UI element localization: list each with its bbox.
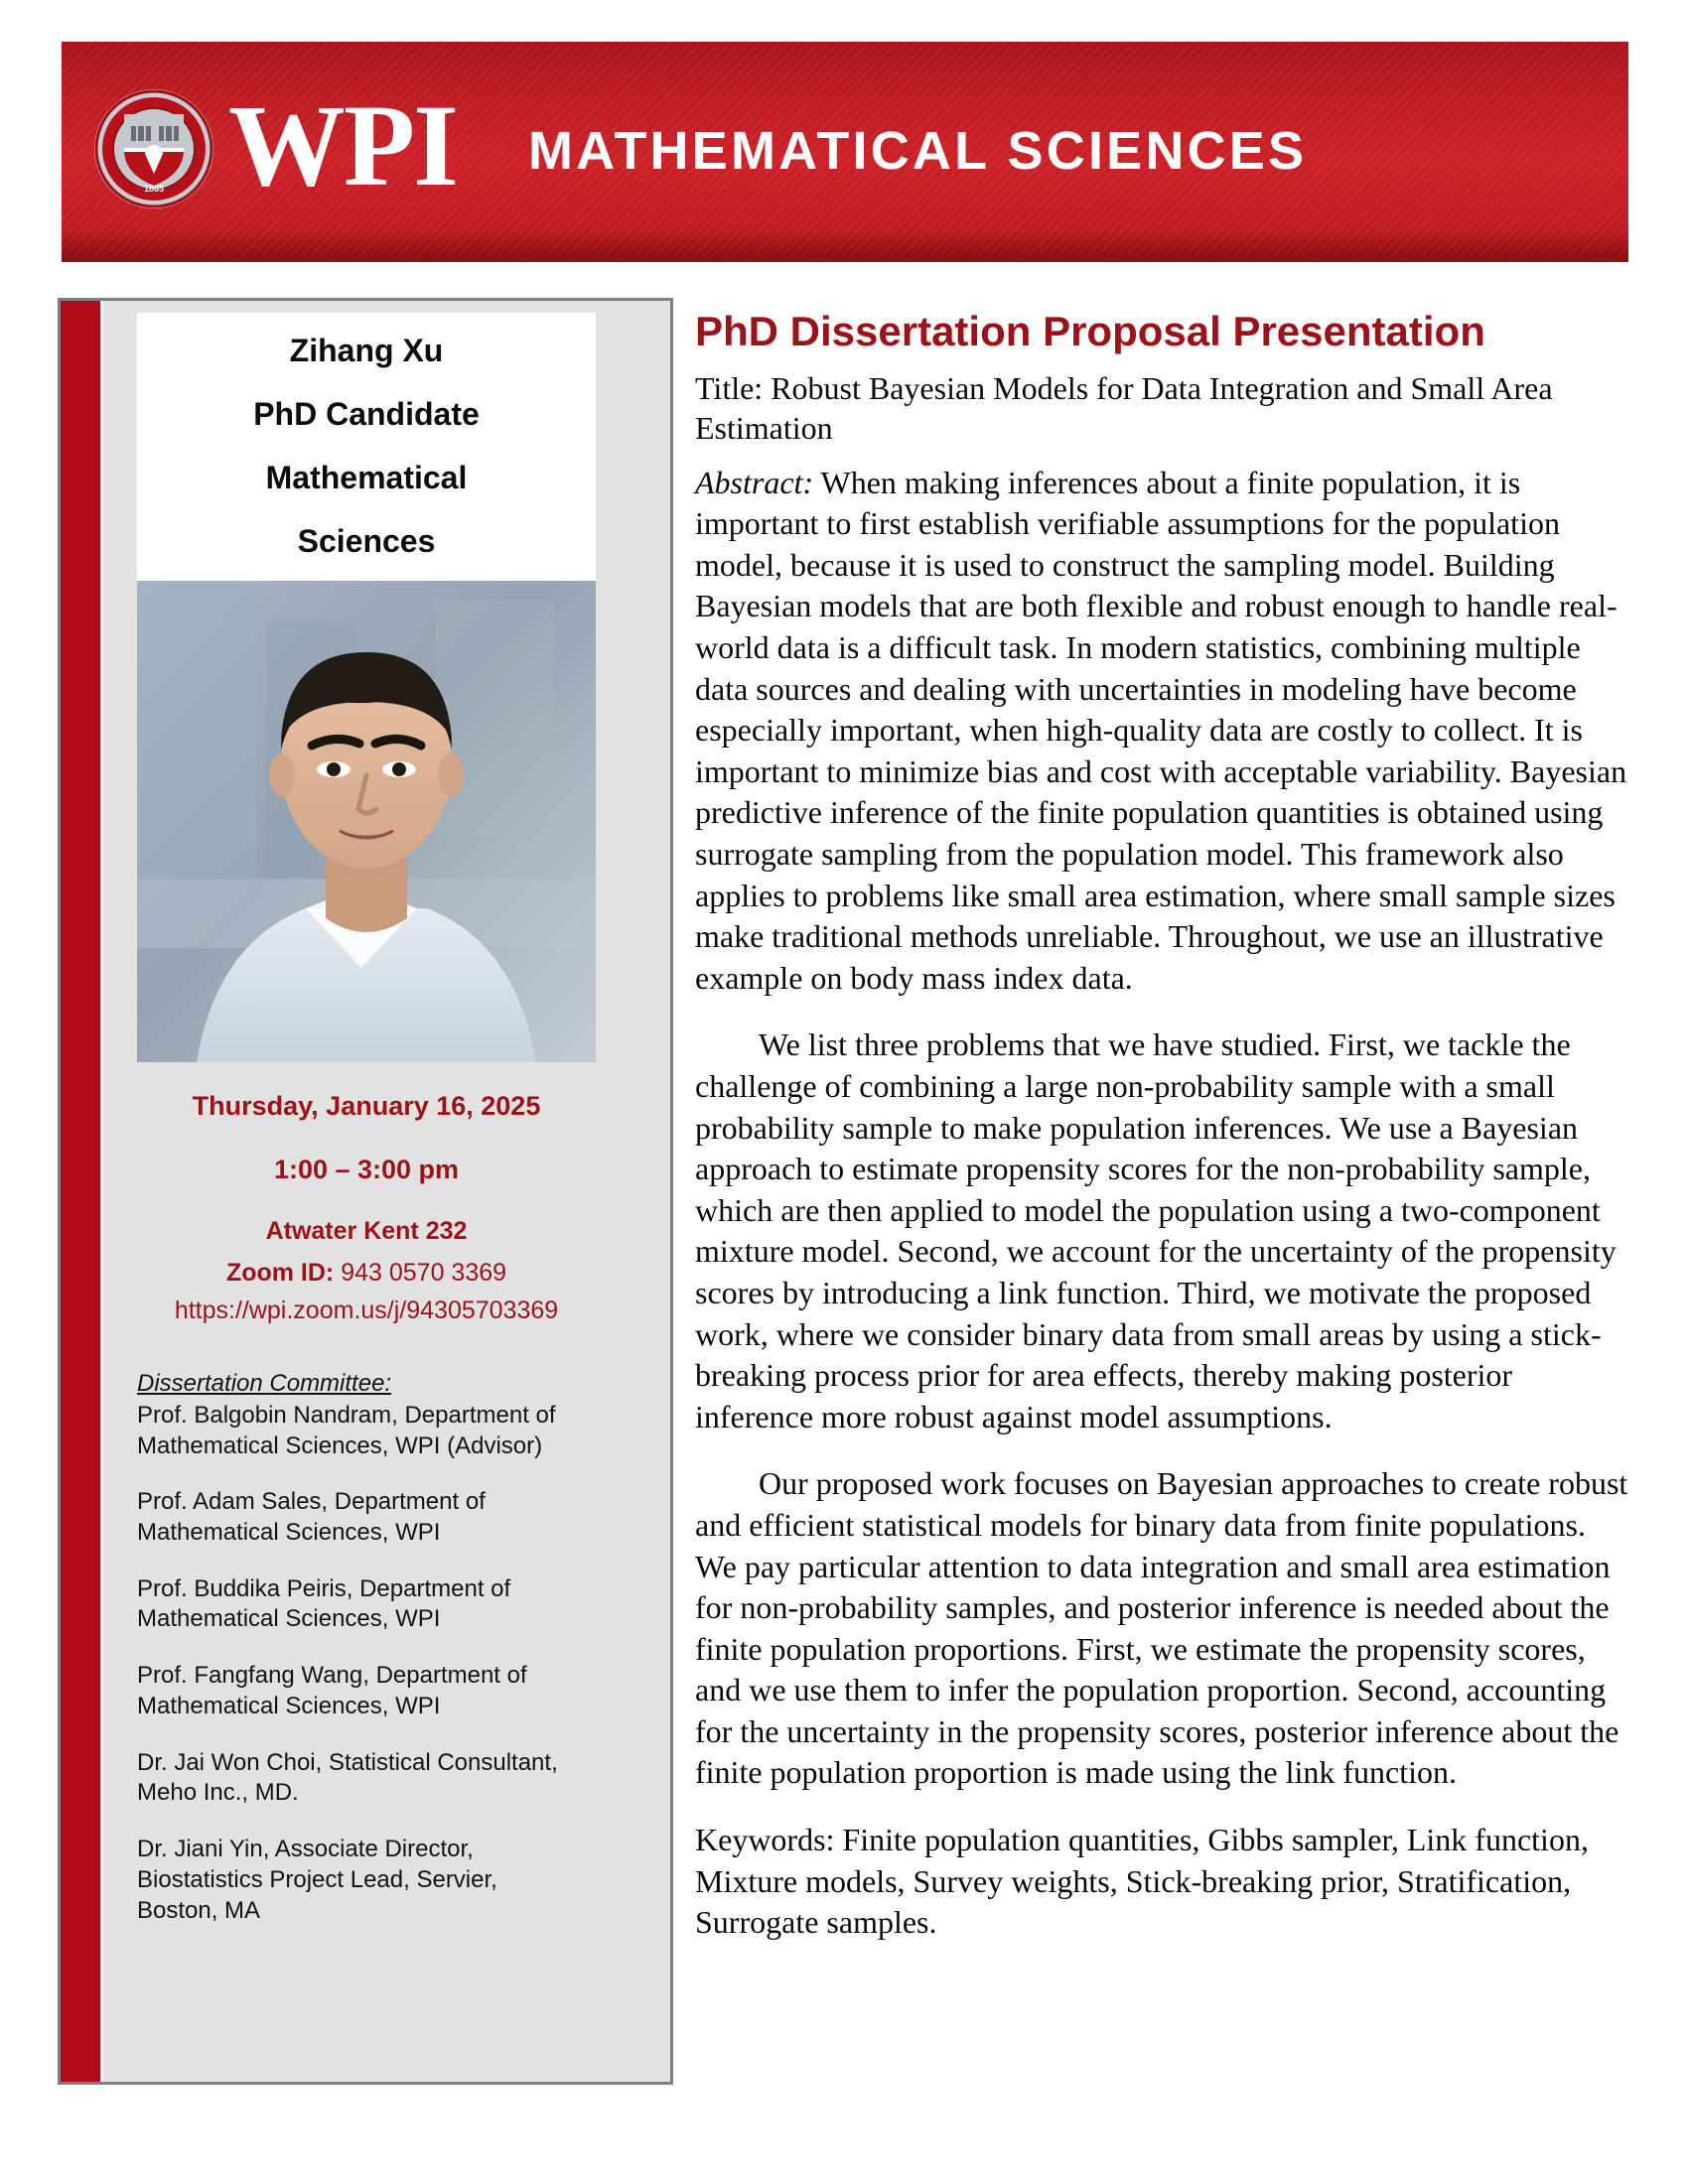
presenter-portrait: [137, 581, 596, 1062]
presenter-name-card: Zihang Xu PhD Candidate Mathematical Sci…: [137, 313, 596, 581]
event-details: Thursday, January 16, 2025 1:00 – 3:00 p…: [137, 1062, 596, 1325]
wpi-seal-icon: 1865: [93, 88, 214, 209]
committee-member: Dr. Jiani Yin, Associate Director, Biost…: [137, 1835, 582, 1926]
svg-text:1865: 1865: [144, 184, 164, 194]
zoom-id: Zoom ID: 943 0570 3369: [137, 1258, 596, 1288]
committee-member: Prof. Adam Sales, Department of Mathemat…: [137, 1487, 582, 1548]
dissertation-title: Title: Robust Bayesian Models for Data I…: [695, 368, 1628, 449]
event-date: Thursday, January 16, 2025: [137, 1092, 596, 1122]
main-content: PhD Dissertation Proposal Presentation T…: [695, 308, 1628, 1944]
header-banner-inner: 1865 WPI MATHEMATICAL SCIENCES: [62, 42, 1628, 256]
presenter-name: Zihang Xu: [147, 335, 586, 366]
presenter-department-line2: Sciences: [147, 525, 586, 557]
wpi-wordmark: WPI: [228, 87, 457, 205]
sidebar: Zihang Xu PhD Candidate Mathematical Sci…: [58, 298, 673, 2085]
presenter-department-line1: Mathematical: [147, 462, 586, 493]
event-time: 1:00 – 3:00 pm: [137, 1156, 596, 1185]
zoom-link[interactable]: https://wpi.zoom.us/j/94305703369: [137, 1296, 596, 1325]
abstract-paragraph-3: Our proposed work focuses on Bayesian ap…: [695, 1463, 1628, 1794]
presenter-role: PhD Candidate: [147, 398, 586, 430]
committee-member: Prof. Fangfang Wang, Department of Mathe…: [137, 1661, 582, 1721]
keywords: Keywords: Finite population quantities, …: [695, 1820, 1628, 1944]
abstract-paragraph-2: We list three problems that we have stud…: [695, 1024, 1628, 1437]
abstract-label: Abstract:: [695, 465, 813, 500]
zoom-id-label: Zoom ID:: [226, 1259, 334, 1287]
committee-member: Dr. Jai Won Choi, Statistical Consultant…: [137, 1748, 582, 1809]
abstract-paragraph: Abstract: When making inferences about a…: [695, 463, 1628, 1000]
header-banner: 1865 WPI MATHEMATICAL SCIENCES: [62, 42, 1628, 262]
dissertation-committee: Dissertation Committee: Prof. Balgobin N…: [137, 1325, 596, 1926]
department-name: MATHEMATICAL SCIENCES: [528, 124, 1307, 178]
zoom-id-value: 943 0570 3369: [341, 1259, 506, 1287]
event-location: Atwater Kent 232: [137, 1218, 596, 1246]
page-title: PhD Dissertation Proposal Presentation: [695, 308, 1628, 354]
committee-member: Prof. Buddika Peiris, Department of Math…: [137, 1574, 582, 1635]
committee-member: Prof. Balgobin Nandram, Department of Ma…: [137, 1401, 582, 1461]
abstract-body: When making inferences about a finite po…: [695, 465, 1626, 996]
sidebar-content: Zihang Xu PhD Candidate Mathematical Sci…: [137, 313, 614, 1952]
committee-heading: Dissertation Committee:: [137, 1369, 596, 1399]
